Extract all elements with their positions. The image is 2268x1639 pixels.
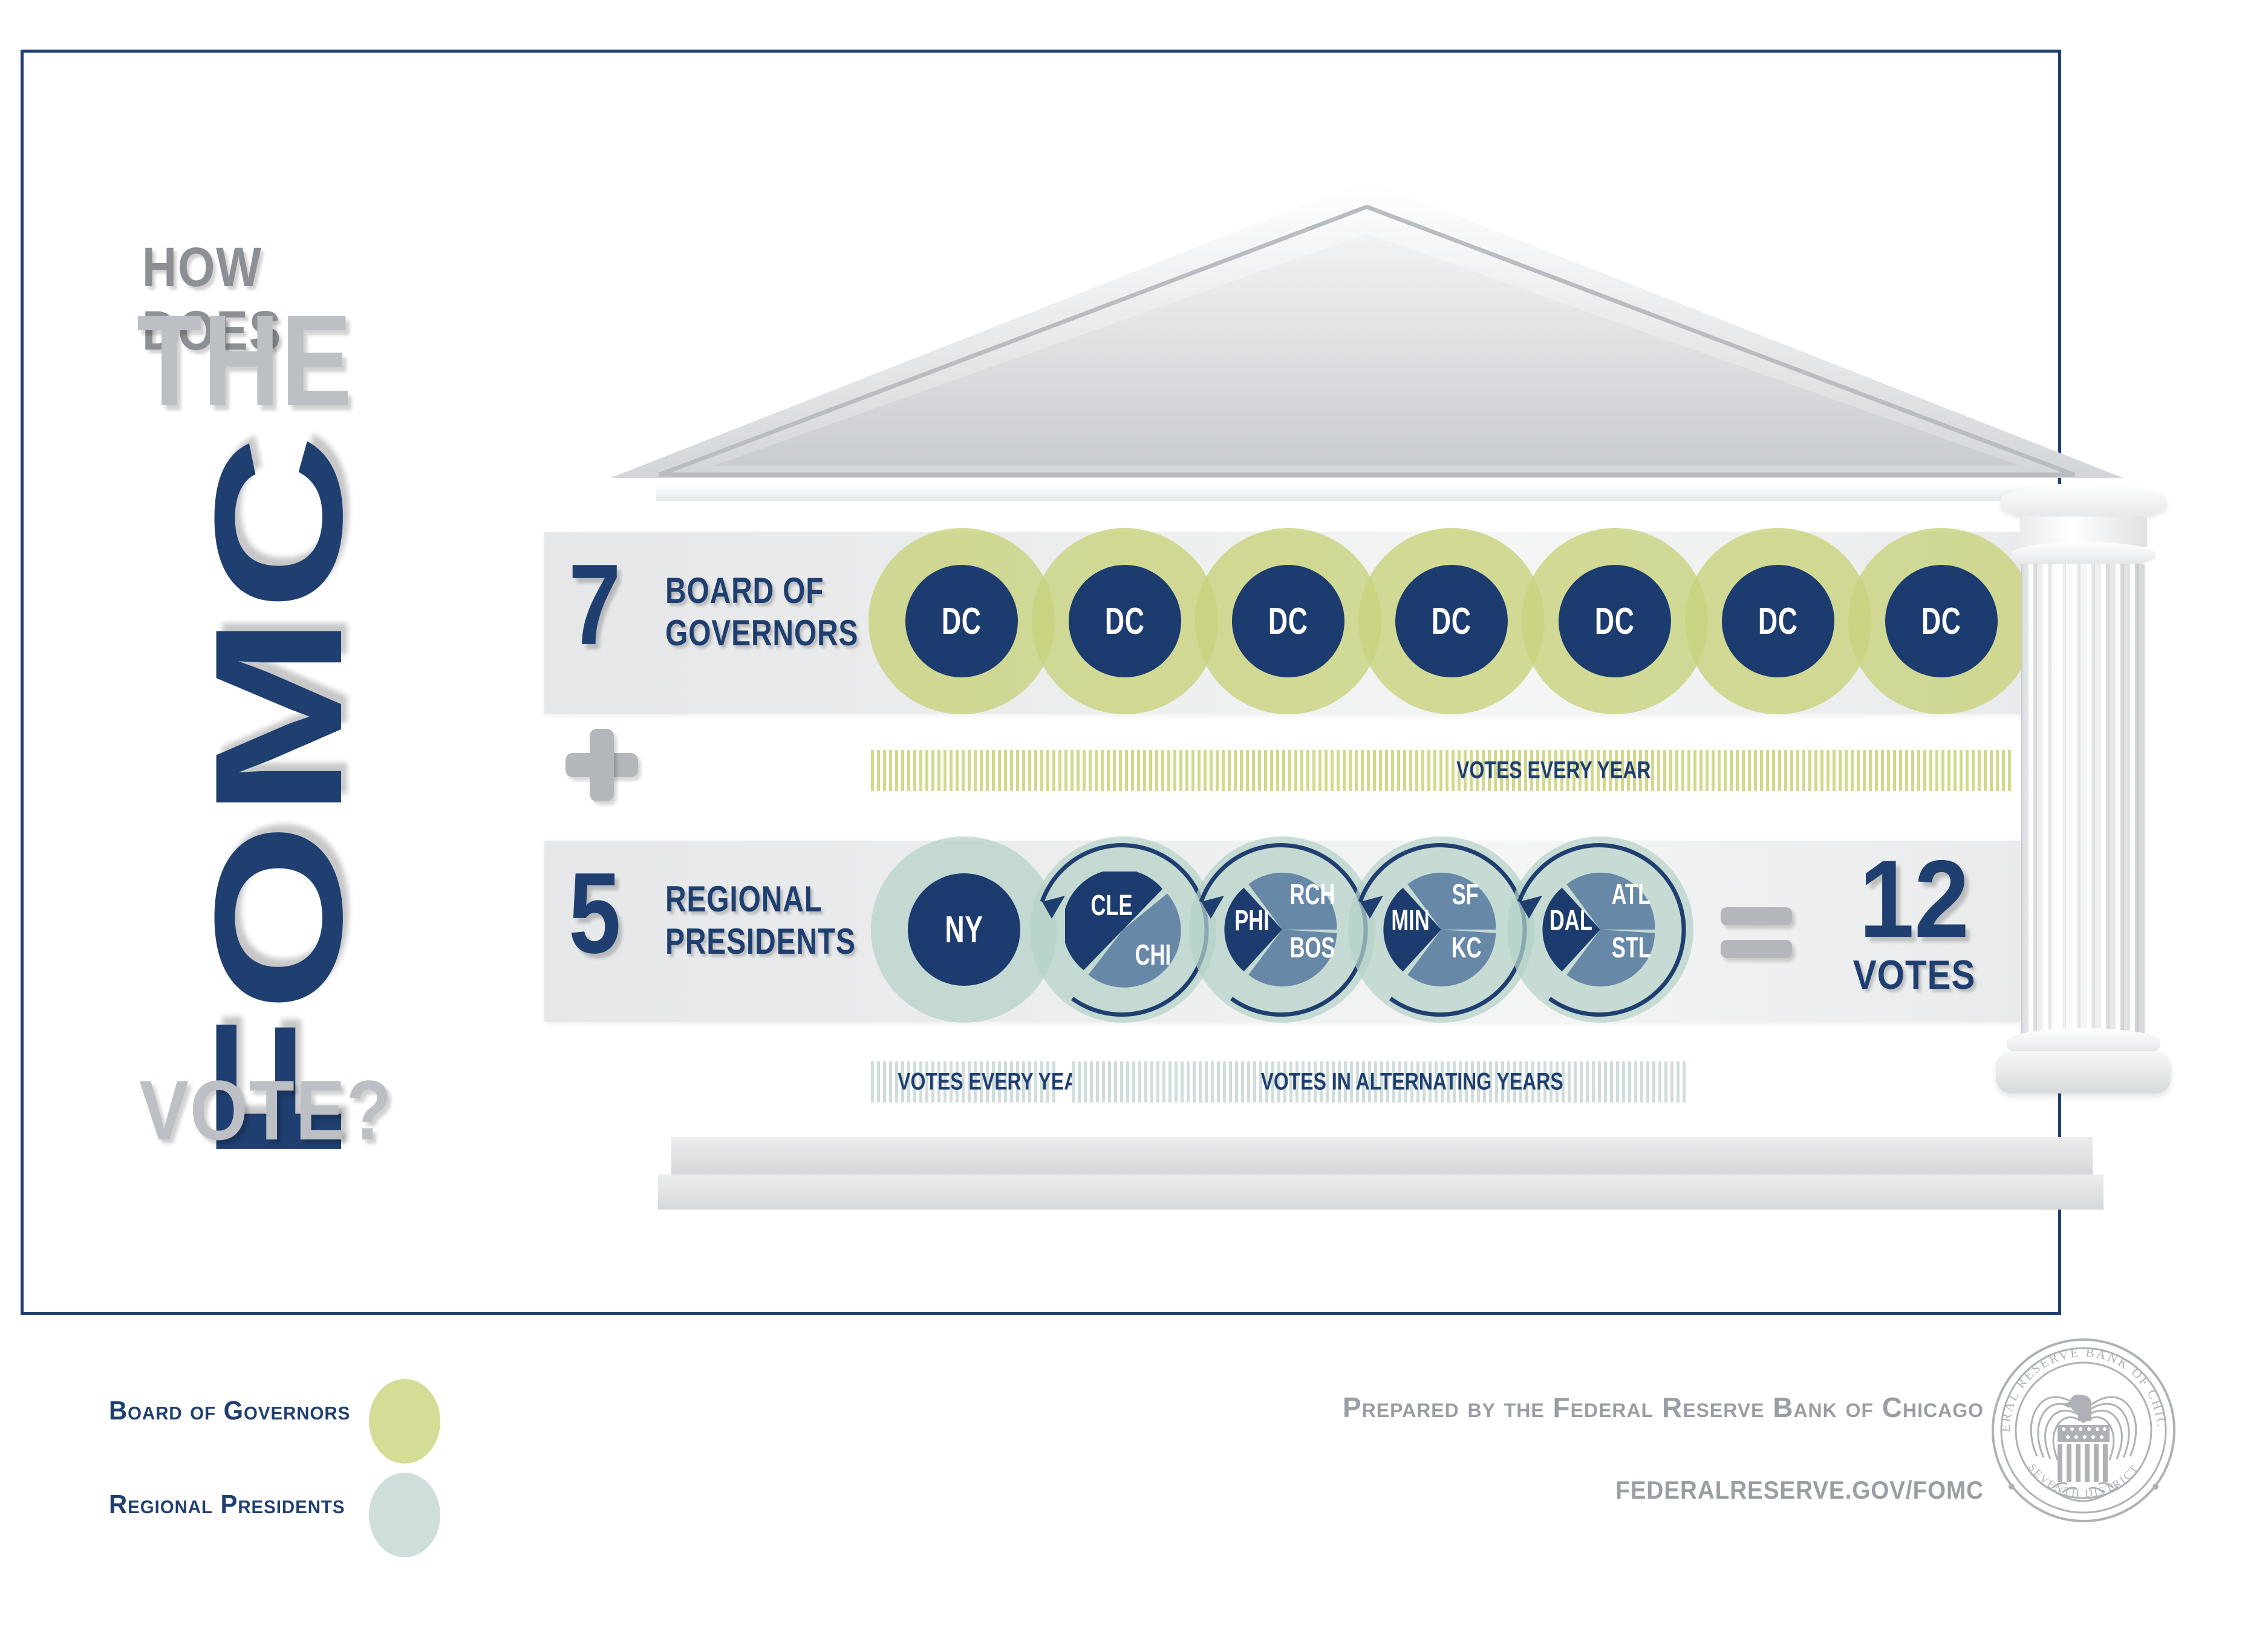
governor-chip-4[interactable]: DC xyxy=(1395,565,1508,677)
governor-chip-label-6: DC xyxy=(1758,600,1798,643)
legend-swatch-regional-presidents xyxy=(369,1473,440,1557)
pie-label-sf: SF xyxy=(1452,878,1479,911)
equals-operator-icon xyxy=(1721,907,1792,958)
governor-chip-5[interactable]: DC xyxy=(1559,565,1671,677)
governor-chip-label-2: DC xyxy=(1105,600,1145,643)
governor-chip-label-1: DC xyxy=(942,600,982,643)
doric-column xyxy=(2014,484,2153,1137)
legend-label-regional-presidents: Regional Presidents xyxy=(109,1490,345,1520)
legend-item-board-of-governors: Board of Governors xyxy=(109,1379,569,1473)
svg-text:SEVENTH DISTRICT: SEVENTH DISTRICT xyxy=(2026,1462,2141,1500)
governor-chip-label-7: DC xyxy=(1921,600,1961,643)
governor-chip-3[interactable]: DC xyxy=(1232,565,1344,677)
governor-chip-label-3: DC xyxy=(1268,600,1308,643)
column-plinth xyxy=(1996,1051,2171,1093)
row-label-governors-line2: GOVERNORS xyxy=(665,614,858,653)
legend: Board of Governors Regional Presidents xyxy=(109,1379,569,1566)
pediment-triangle xyxy=(611,175,2123,490)
presidents-votes-every-year-caption: VOTES EVERY YEAR xyxy=(898,1069,1092,1096)
legend-item-regional-presidents: Regional Presidents xyxy=(109,1473,569,1566)
pie-label-kc: KC xyxy=(1452,931,1482,965)
architrave xyxy=(656,484,2108,501)
governor-chip-7[interactable]: DC xyxy=(1885,565,1998,677)
seal-inner-text: SEVENTH DISTRICT xyxy=(2026,1462,2141,1500)
row-label-governors-line1: BOARD OF xyxy=(665,572,824,610)
pie-label-min: MIN xyxy=(1391,904,1429,937)
building-step-lower xyxy=(658,1175,2103,1210)
title-line-vote: VOTE? xyxy=(139,1061,393,1159)
legend-swatch-board-of-governors xyxy=(369,1379,440,1464)
president-chip-label-ny: NY xyxy=(945,908,983,951)
governor-chip-label-5: DC xyxy=(1595,600,1635,643)
presidents-alternating-years-bar: VOTES IN ALTERNATING YEARS xyxy=(1072,1061,1687,1103)
governor-chip-2[interactable]: DC xyxy=(1069,565,1181,677)
total-votes-label: VOTES xyxy=(1839,951,1989,999)
footer-credit: Prepared by the Federal Reserve Bank of … xyxy=(1306,1391,1984,1424)
presidents-votes-every-year-bar: VOTES EVERY YEAR xyxy=(871,1061,1058,1103)
presidents-alternating-years-caption: VOTES IN ALTERNATING YEARS xyxy=(1261,1069,1563,1096)
governors-votes-bar: VOTES EVERY YEAR xyxy=(871,750,2014,791)
governor-chip-6[interactable]: DC xyxy=(1722,565,1834,677)
pie-label-cle: CLE xyxy=(1090,889,1132,922)
building-step-upper xyxy=(671,1137,2093,1175)
pie-label-dal: DAL xyxy=(1549,904,1592,937)
governor-chip-1[interactable]: DC xyxy=(905,565,1018,677)
pediment: NATIONAL MONETARY POLICY xyxy=(611,175,2123,490)
total-votes-number: 12 xyxy=(1836,847,1993,951)
column-shaft xyxy=(2021,564,2146,1035)
pie-label-bos: BOS xyxy=(1290,931,1335,965)
pie-label-atl: ATL xyxy=(1612,878,1651,911)
federal-reserve-bank-of-chicago-seal: FEDERAL RESERVE BANK OF CHICAGO SEVENTH … xyxy=(1990,1337,2177,1524)
pie-label-stl: STL xyxy=(1612,931,1651,965)
pie-label-chi: CHI xyxy=(1135,939,1171,972)
pie-label-phi: PHI xyxy=(1234,904,1269,937)
row-label-presidents-line1: REGIONAL xyxy=(665,880,823,919)
plus-operator-icon xyxy=(565,729,638,801)
row-number-presidents: 5 xyxy=(569,856,621,971)
row-number-governors: 7 xyxy=(569,547,621,662)
president-chip-ny[interactable]: NY xyxy=(908,873,1020,986)
legend-label-board-of-governors: Board of Governors xyxy=(109,1396,350,1426)
title-block: HOW DOES THE FOMC VOTE? xyxy=(115,224,454,1252)
total-votes: 12 VOTES xyxy=(1826,847,2002,999)
governor-chip-label-4: DC xyxy=(1432,600,1471,643)
column-abacus xyxy=(2001,484,2166,521)
pie-label-rch: RCH xyxy=(1290,878,1335,911)
governors-votes-bar-caption: VOTES EVERY YEAR xyxy=(1457,757,1651,784)
row-label-presidents-line2: PRESIDENTS xyxy=(665,922,856,961)
footer-url: FEDERALRESERVE.GOV/FOMC xyxy=(1361,1476,1984,1505)
